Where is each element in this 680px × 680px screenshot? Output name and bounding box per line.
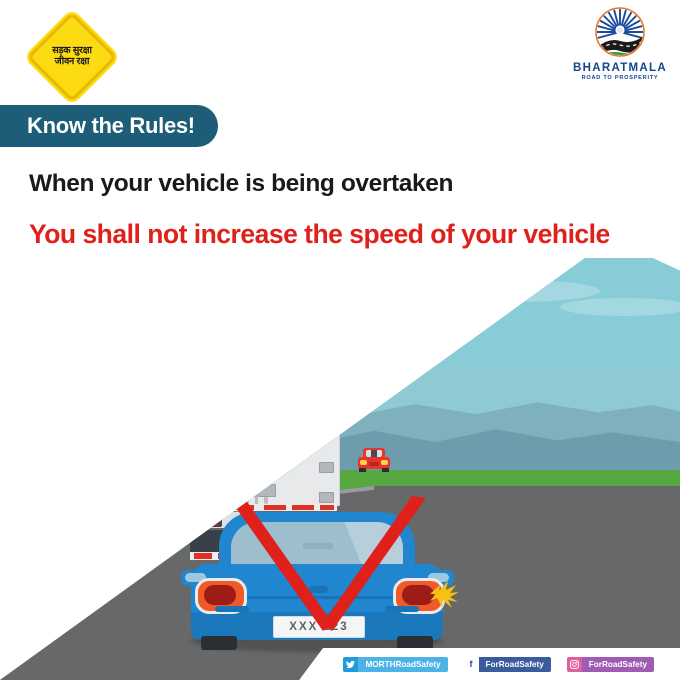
banner-label: Know the Rules! (27, 113, 195, 139)
door-hinge (180, 414, 195, 425)
instagram-icon (567, 657, 582, 672)
road-safety-poster: सड़क सुरक्षा जीवन रक्षा (0, 0, 680, 680)
door-hinge (180, 492, 195, 503)
road-safety-logo: सड़क सुरक्षा जीवन रक्षा (29, 14, 115, 100)
cloud (430, 280, 600, 302)
social-badge-instagram[interactable]: ForRoadSafety (567, 657, 654, 672)
door-split (255, 356, 258, 504)
door-lock-rod (264, 358, 268, 504)
door-hinge (319, 414, 334, 425)
truck-cargo-doors (175, 352, 340, 506)
facebook-handle: ForRoadSafety (479, 657, 551, 672)
truck-roof (170, 344, 343, 354)
door-hinge (319, 462, 334, 473)
door-hinge (239, 360, 257, 373)
twitter-handle: MORTHRoadSafety (358, 657, 447, 672)
door-hinge (180, 462, 195, 473)
diamond-shape (27, 12, 118, 103)
door-lock-rod (245, 358, 249, 504)
truck-top-rail (174, 352, 339, 357)
facebook-icon: f (464, 657, 479, 672)
brand-tagline: ROAD TO PROSPERITY (566, 75, 674, 81)
truck-taillight (186, 516, 202, 527)
poster-header: सड़क सुरक्षा जीवन रक्षा (0, 0, 680, 150)
bharatmala-brand: BHARATMALA ROAD TO PROSPERITY (566, 6, 674, 94)
door-hinge (258, 360, 276, 373)
know-the-rules-banner: Know the Rules! (0, 105, 218, 147)
social-badges: MORTHRoadSafety f ForRoadSafety ForRoadS… (0, 648, 680, 680)
prohibition-cross-icon (225, 496, 430, 631)
scene-clip: XXX 123 (0, 258, 680, 680)
bharatmala-emblem-icon (594, 6, 646, 58)
distant-red-car (356, 446, 392, 474)
door-hinge (180, 366, 195, 377)
cloud (560, 298, 680, 316)
field-shade (30, 508, 140, 520)
cloud (300, 292, 510, 318)
instagram-handle: ForRoadSafety (582, 657, 654, 672)
twitter-icon (343, 657, 358, 672)
headline-primary: When your vehicle is being overtaken (29, 170, 659, 198)
brand-name: BHARATMALA (566, 62, 674, 74)
social-badge-facebook[interactable]: f ForRoadSafety (464, 657, 551, 672)
door-hinge (319, 366, 334, 377)
illustration-scene: XXX 123 (0, 258, 680, 680)
social-badge-twitter[interactable]: MORTHRoadSafety (343, 657, 447, 672)
headline-secondary: You shall not increase the speed of your… (29, 219, 669, 250)
turn-signal-icon (428, 576, 464, 612)
social-footer: MORTHRoadSafety f ForRoadSafety ForRoadS… (0, 648, 680, 680)
door-hinge (239, 484, 257, 497)
